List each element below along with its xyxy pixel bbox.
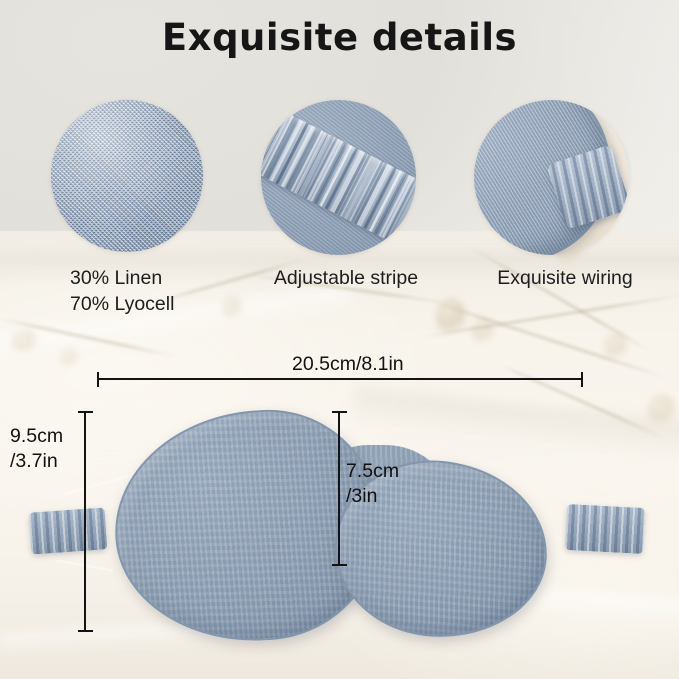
dimension-line-width — [97, 378, 583, 380]
dried-flower-blur — [472, 318, 494, 344]
highlight-overlay — [51, 100, 203, 252]
dimension-cap-eye-bottom — [332, 564, 347, 566]
dimension-cap-right — [581, 372, 583, 387]
dimension-cap-bottom — [78, 630, 93, 632]
dimension-cap-left — [97, 372, 99, 387]
dimension-label-width: 20.5cm/8.1in — [292, 352, 404, 377]
detail-circle-fabric-composition — [51, 100, 203, 252]
product-infographic: Exquisite details 30% Linen 70% Lyocell … — [0, 0, 679, 679]
dimension-line-height-total — [84, 411, 86, 632]
dimension-cap-eye-top — [332, 411, 347, 413]
dimension-label-height-total: 9.5cm /3.7in — [10, 424, 63, 475]
dried-flower-blur — [12, 330, 38, 352]
detail-label-adjustable-stripe: Adjustable stripe — [256, 266, 436, 292]
dimension-cap-top — [78, 411, 93, 413]
detail-circle-exquisite-wiring — [474, 100, 629, 255]
detail-label-fabric-composition: 30% Linen 70% Lyocell — [6, 266, 248, 318]
dried-flower-blur — [60, 348, 78, 368]
page-title: Exquisite details — [0, 16, 679, 59]
detail-label-exquisite-wiring: Exquisite wiring — [470, 266, 660, 292]
dimension-line-height-eye — [338, 411, 340, 566]
dimension-label-height-eye: 7.5cm /3in — [346, 459, 399, 510]
detail-circle-adjustable-stripe — [261, 100, 416, 255]
dried-flower-blur — [648, 394, 676, 426]
